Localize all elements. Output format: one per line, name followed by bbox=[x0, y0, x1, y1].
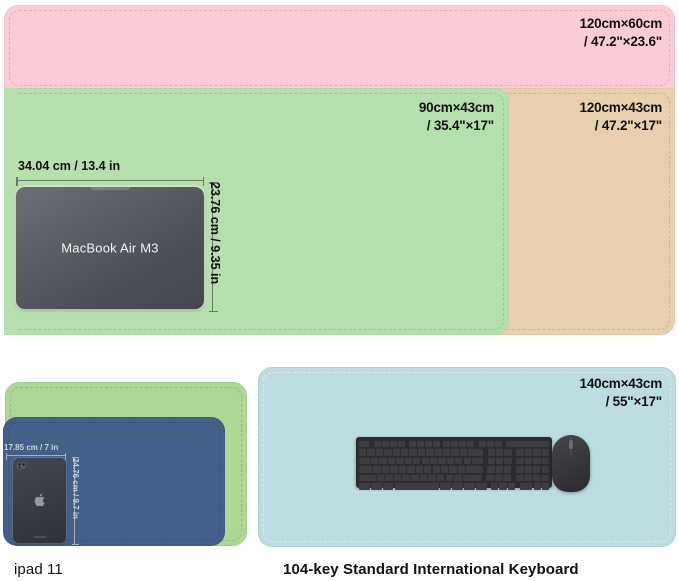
size-label-140x43: 140cm×43cm / 55"×17" bbox=[580, 375, 662, 410]
keyboard-row-modifiers bbox=[359, 482, 549, 489]
scroll-wheel-icon bbox=[569, 440, 573, 449]
size-label-120x43: 120cm×43cm / 47.2"×17" bbox=[580, 99, 662, 134]
macbook-width-dimension-line bbox=[16, 180, 204, 181]
desk-pad-120x60-pink bbox=[4, 5, 675, 91]
ipad-11-device bbox=[13, 458, 66, 543]
mouse-device bbox=[552, 435, 590, 492]
macbook-height-label: 23.76 cm / 9.35 in bbox=[208, 182, 222, 312]
desk-mat-size-comparison-figure: 120cm×60cm / 47.2"×23.6" 120cm×43cm / 47… bbox=[0, 0, 679, 581]
keyboard-row-home bbox=[359, 465, 549, 472]
caption-ipad: ipad 11 bbox=[14, 561, 63, 578]
ipad-width-label: 17.85 cm / 7 in bbox=[4, 443, 58, 452]
keyboard-row-number bbox=[359, 448, 549, 455]
keyboard-row-bottom-letters bbox=[359, 474, 549, 481]
keyboard-row-top-letters bbox=[359, 457, 549, 464]
camera-module-icon bbox=[17, 462, 26, 469]
keyboard-row-function bbox=[359, 440, 549, 447]
laptop-lid-notch-icon bbox=[90, 187, 130, 190]
keyboard-device bbox=[356, 437, 552, 488]
macbook-air-m3-device: MacBook Air M3 bbox=[16, 187, 204, 309]
size-label-120x60: 120cm×60cm / 47.2"×23.6" bbox=[580, 15, 662, 50]
size-label-90x43: 90cm×43cm / 35.4"×17" bbox=[419, 99, 494, 134]
macbook-width-label: 34.04 cm / 13.4 in bbox=[18, 159, 120, 173]
pad-stitch-border bbox=[9, 10, 670, 86]
caption-keyboard: 104-key Standard International Keyboard bbox=[283, 561, 579, 578]
device-edge-highlight bbox=[33, 536, 46, 538]
macbook-device-label: MacBook Air M3 bbox=[16, 241, 204, 256]
ipad-width-dimension-line bbox=[6, 455, 66, 456]
apple-logo-icon bbox=[33, 492, 46, 507]
ipad-height-label: 24.76 cm / 9.7 in bbox=[71, 458, 80, 548]
